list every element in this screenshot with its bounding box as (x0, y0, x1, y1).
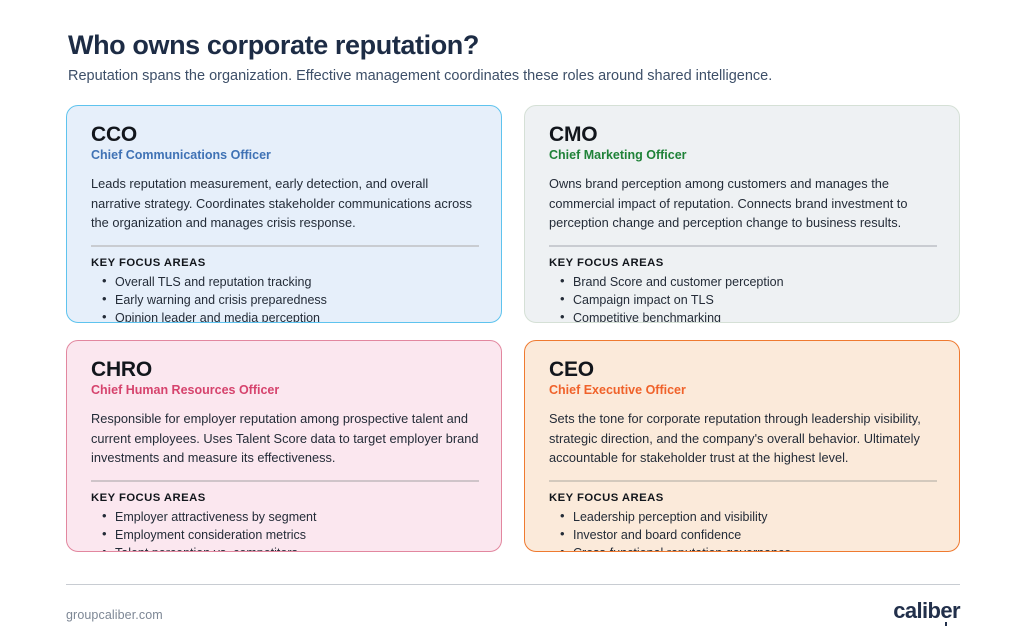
key-focus-areas-list: Employer attractiveness by segment Emplo… (91, 508, 479, 552)
list-item: Employer attractiveness by segment (113, 508, 479, 526)
role-full-title: Chief Executive Officer (549, 383, 937, 398)
list-item: Early warning and crisis preparedness (113, 291, 479, 309)
list-item: Talent perception vs. competitors (113, 544, 479, 552)
card-divider (549, 245, 937, 247)
brand-accent-letter: e (940, 600, 952, 622)
role-description: Owns brand perception among customers an… (549, 174, 937, 233)
role-abbreviation: CCO (91, 123, 479, 146)
list-item: Overall TLS and reputation tracking (113, 273, 479, 291)
role-description: Responsible for employer reputation amon… (91, 409, 479, 468)
role-description: Sets the tone for corporate reputation t… (549, 409, 937, 468)
role-card-cco: CCO Chief Communications Officer Leads r… (66, 105, 502, 323)
brand-prefix: calib (893, 598, 940, 623)
card-divider (549, 480, 937, 482)
list-item: Cross-functional reputation governance (571, 544, 937, 552)
page-subtitle: Reputation spans the organization. Effec… (68, 67, 960, 87)
key-focus-areas-heading: KEY FOCUS AREAS (549, 257, 937, 269)
role-card-ceo: CEO Chief Executive Officer Sets the ton… (524, 340, 960, 552)
caliber-logo: caliber (893, 600, 960, 622)
list-item: Leadership perception and visibility (571, 508, 937, 526)
card-divider (91, 245, 479, 247)
role-full-title: Chief Marketing Officer (549, 148, 937, 163)
list-item: Investor and board confidence (571, 526, 937, 544)
card-divider (91, 480, 479, 482)
role-abbreviation: CEO (549, 358, 937, 381)
role-card-cmo: CMO Chief Marketing Officer Owns brand p… (524, 105, 960, 323)
role-abbreviation: CMO (549, 123, 937, 146)
list-item: Employment consideration metrics (113, 526, 479, 544)
slide-root: Who owns corporate reputation? Reputatio… (0, 0, 1024, 640)
list-item: Campaign impact on TLS (571, 291, 937, 309)
list-item: Opinion leader and media perception (113, 309, 479, 323)
role-card-grid: CCO Chief Communications Officer Leads r… (66, 105, 960, 552)
page-title: Who owns corporate reputation? (68, 30, 960, 61)
role-description: Leads reputation measurement, early dete… (91, 174, 479, 233)
key-focus-areas-heading: KEY FOCUS AREAS (549, 492, 937, 504)
brand-suffix: r (952, 598, 960, 623)
footer-divider (66, 584, 960, 585)
key-focus-areas-list: Overall TLS and reputation tracking Earl… (91, 273, 479, 323)
role-full-title: Chief Communications Officer (91, 148, 479, 163)
key-focus-areas-heading: KEY FOCUS AREAS (91, 492, 479, 504)
key-focus-areas-heading: KEY FOCUS AREAS (91, 257, 479, 269)
footer-row: groupcaliber.com caliber (66, 600, 960, 622)
footer-website[interactable]: groupcaliber.com (66, 608, 163, 622)
key-focus-areas-list: Brand Score and customer perception Camp… (549, 273, 937, 323)
role-full-title: Chief Human Resources Officer (91, 383, 479, 398)
key-focus-areas-list: Leadership perception and visibility Inv… (549, 508, 937, 552)
role-abbreviation: CHRO (91, 358, 479, 381)
slide-footer: groupcaliber.com caliber (66, 584, 960, 622)
slide-header: Who owns corporate reputation? Reputatio… (66, 30, 960, 87)
list-item: Competitive benchmarking (571, 309, 937, 323)
list-item: Brand Score and customer perception (571, 273, 937, 291)
role-card-chro: CHRO Chief Human Resources Officer Respo… (66, 340, 502, 552)
